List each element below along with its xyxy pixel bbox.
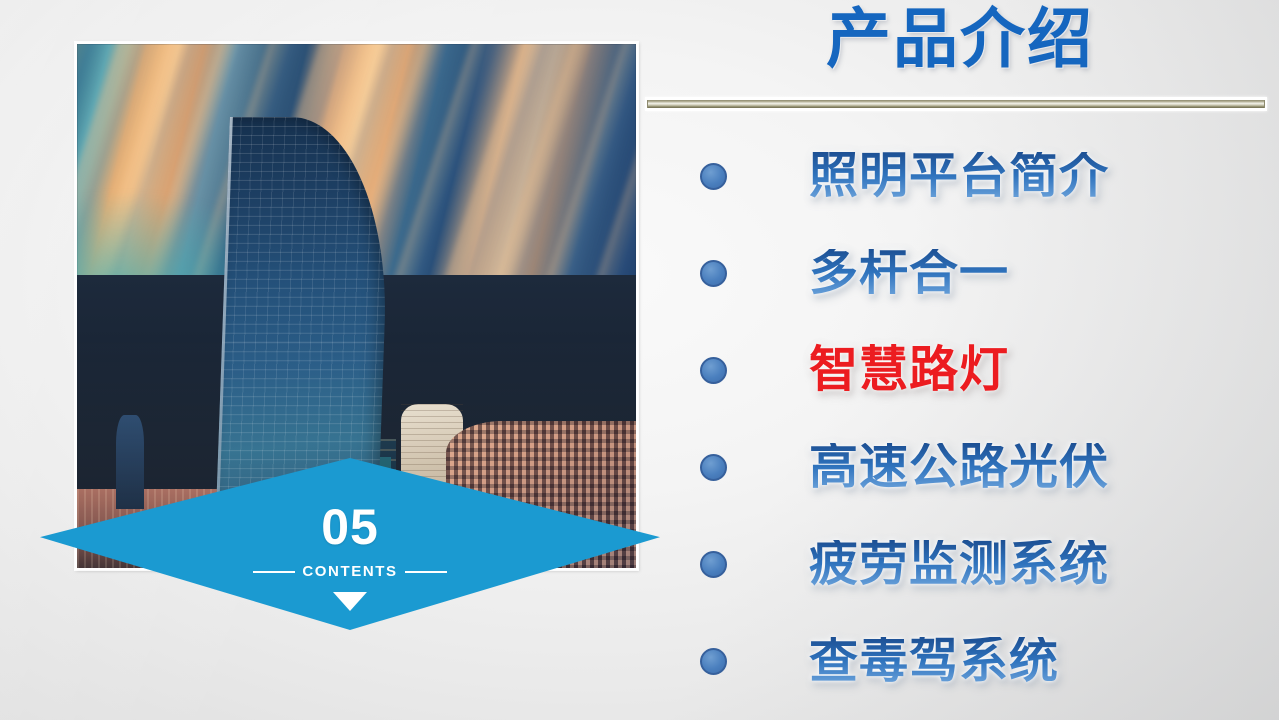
bullet-icon: [700, 357, 727, 384]
bullet-icon: [700, 454, 727, 481]
bullet-icon: [700, 163, 727, 190]
list-item-label: 照明平台简介: [809, 152, 1109, 201]
bullet-icon: [700, 551, 727, 578]
title-divider-bar: [647, 100, 1265, 108]
subtitle-rule-right: [405, 571, 447, 573]
list-item-label: 高速公路光伏: [809, 443, 1109, 492]
presentation-slide: 05 CONTENTS 产品介绍 照明平台简介 多杆合一 智慧路灯 高速公路光伏: [0, 0, 1279, 720]
list-item[interactable]: 疲劳监测系统: [700, 516, 1260, 613]
caret-down-icon: [333, 592, 367, 611]
list-item-label: 多杆合一: [809, 249, 1009, 298]
list-item[interactable]: 多杆合一: [700, 225, 1260, 322]
agenda-list: 照明平台简介 多杆合一 智慧路灯 高速公路光伏 疲劳监测系统 查毒驾系统: [700, 128, 1260, 710]
title-divider: [645, 97, 1267, 111]
section-subtitle-row: CONTENTS: [253, 563, 446, 580]
section-subtitle: CONTENTS: [302, 563, 397, 580]
list-item[interactable]: 照明平台简介: [700, 128, 1260, 225]
subtitle-rule-left: [253, 571, 295, 573]
section-number: 05: [321, 502, 379, 552]
list-item[interactable]: 查毒驾系统: [700, 613, 1260, 710]
section-badge: 05 CONTENTS: [40, 458, 660, 630]
slide-title: 产品介绍: [660, 2, 1260, 77]
list-item-label: 智慧路灯: [809, 346, 1009, 395]
list-item-label: 查毒驾系统: [809, 637, 1059, 686]
list-item-label: 疲劳监测系统: [809, 540, 1109, 589]
list-item[interactable]: 高速公路光伏: [700, 419, 1260, 516]
bullet-icon: [700, 260, 727, 287]
bullet-icon: [700, 648, 727, 675]
list-item[interactable]: 智慧路灯: [700, 322, 1260, 419]
